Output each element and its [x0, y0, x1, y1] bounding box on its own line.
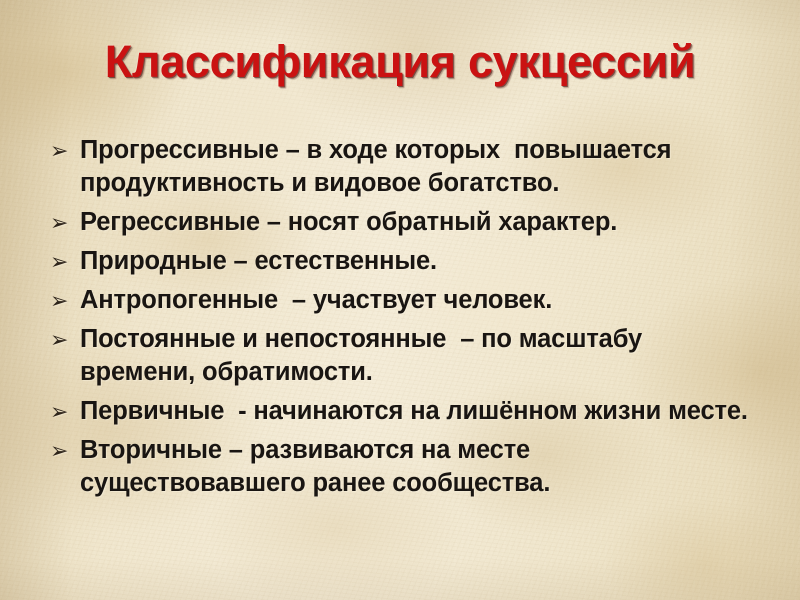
list-item: ➢ Прогрессивные – в ходе которых повышае… — [44, 134, 756, 200]
list-item-text: Вторичные – развиваются на месте существ… — [80, 436, 550, 497]
list-item: ➢ Первичные - начинаются на лишённом жиз… — [44, 395, 756, 428]
bullet-list: ➢ Прогрессивные – в ходе которых повышае… — [44, 134, 756, 506]
list-item: ➢ Антропогенные – участвует человек. — [44, 284, 756, 317]
list-item-text: Антропогенные – участвует человек. — [80, 286, 552, 314]
list-item: ➢ Природные – естественные. — [44, 245, 756, 278]
page-title: Классификация сукцессий — [0, 36, 800, 88]
arrowhead-bullet-icon: ➢ — [50, 245, 74, 278]
list-item: ➢ Постоянные и непостоянные – по масштаб… — [44, 323, 756, 389]
arrowhead-bullet-icon: ➢ — [50, 206, 74, 239]
list-item-text: Регрессивные – носят обратный характер. — [80, 208, 617, 236]
arrowhead-bullet-icon: ➢ — [50, 134, 74, 167]
arrowhead-bullet-icon: ➢ — [50, 284, 74, 317]
list-item-text: Прогрессивные – в ходе которых повышаетс… — [80, 136, 678, 197]
arrowhead-bullet-icon: ➢ — [50, 395, 74, 428]
list-item-text: Постоянные и непостоянные – по масштабу … — [80, 325, 649, 386]
list-item-text: Природные – естественные. — [80, 247, 437, 275]
arrowhead-bullet-icon: ➢ — [50, 434, 74, 467]
list-item: ➢ Регрессивные – носят обратный характер… — [44, 206, 756, 239]
slide-canvas: Классификация сукцессий ➢ Прогрессивные … — [0, 0, 800, 600]
list-item-text: Первичные - начинаются на лишённом жизни… — [80, 397, 748, 425]
list-item: ➢ Вторичные – развиваются на месте сущес… — [44, 434, 756, 500]
arrowhead-bullet-icon: ➢ — [50, 323, 74, 356]
